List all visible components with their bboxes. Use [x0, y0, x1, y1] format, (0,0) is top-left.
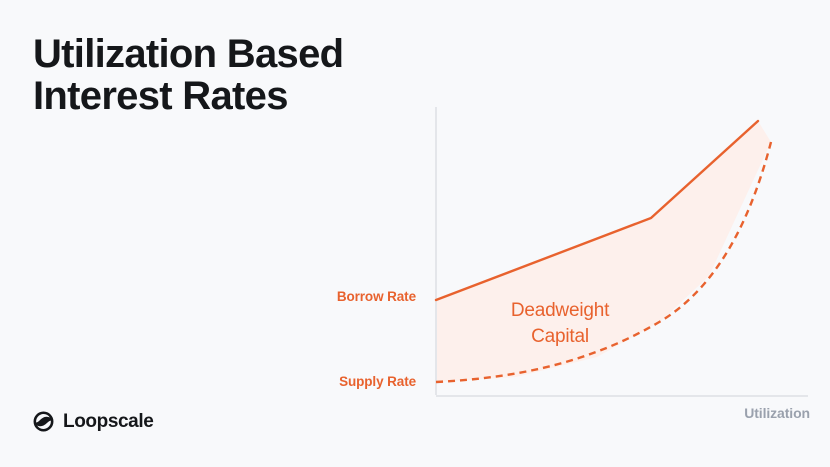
brand-name: Loopscale	[63, 410, 153, 433]
y-axis-label-borrow-rate: Borrow Rate	[337, 289, 416, 304]
interest-rate-chart	[300, 95, 820, 445]
chart-container: Borrow Rate Supply Rate Utilization Dead…	[300, 95, 820, 445]
deadweight-capital-annotation-line-1: Deadweight	[470, 298, 650, 324]
x-axis-label-utilization: Utilization	[744, 405, 810, 421]
slide-canvas: Utilization Based Interest Rates Borrow …	[0, 0, 830, 467]
page-title-line-1: Utilization Based	[33, 33, 413, 75]
deadweight-capital-annotation-line-2: Capital	[470, 324, 650, 350]
deadweight-capital-annotation: Deadweight Capital	[470, 298, 650, 350]
loopscale-logo-icon	[32, 410, 55, 433]
brand-logo: Loopscale	[32, 410, 153, 433]
y-axis-label-supply-rate: Supply Rate	[339, 374, 416, 389]
